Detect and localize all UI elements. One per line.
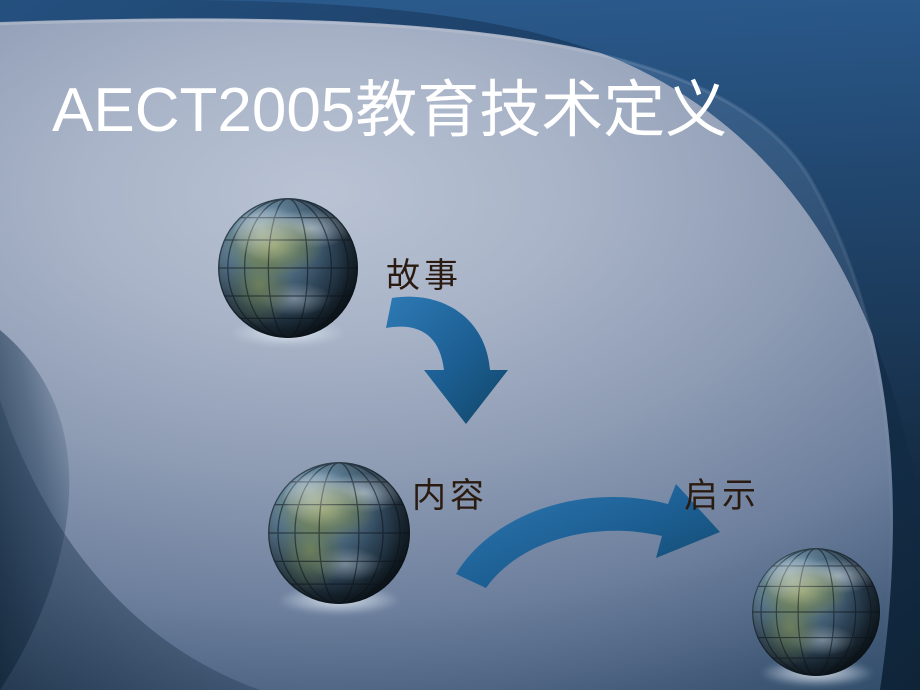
label-insight: 启示: [684, 468, 760, 517]
globe-highlight: [235, 209, 308, 259]
label-content: 内容: [412, 468, 488, 517]
globe-icon: [268, 462, 410, 604]
globe-highlight: [767, 558, 834, 604]
globe-icon: [218, 198, 358, 338]
presentation-slide: AECT2005教育技术定义: [0, 0, 920, 690]
slide-title: AECT2005教育技术定义: [52, 78, 727, 143]
globe-highlight: [285, 473, 359, 524]
arrow-story-to-content: [380, 292, 520, 452]
globe-content: [268, 462, 410, 604]
globe-story: [218, 198, 358, 338]
globe-icon: [752, 548, 880, 676]
label-story: 故事: [386, 248, 462, 297]
globe-insight: [752, 548, 880, 676]
